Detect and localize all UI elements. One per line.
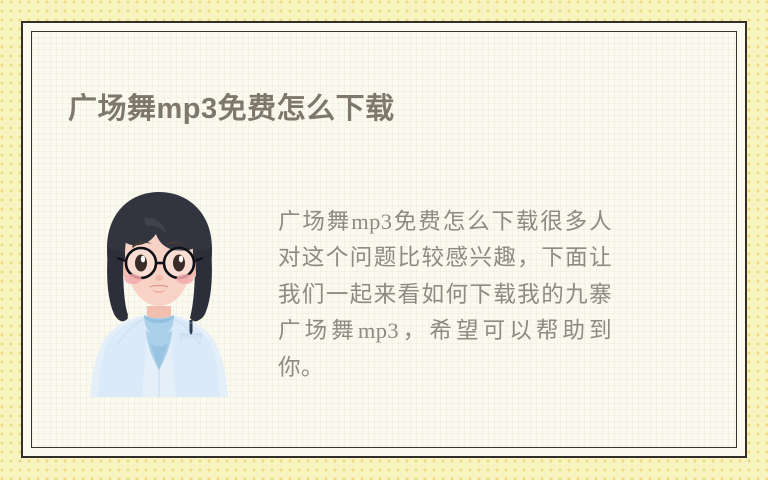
- page-title: 广场舞mp3免费怎么下载: [68, 91, 395, 127]
- inner-frame-panel: 广场舞mp3免费怎么下载: [31, 31, 737, 448]
- woman-avatar-illustration: [84, 182, 234, 407]
- nose-icon: [155, 275, 163, 281]
- outer-frame-border: 广场舞mp3免费怎么下载: [21, 21, 747, 458]
- content-row: 广场舞mp3免费怎么下载很多人对这个问题比较感兴趣，下面让我们一起来看如何下载我…: [32, 182, 736, 409]
- avatar: [84, 182, 234, 407]
- poster-canvas: 广场舞mp3免费怎么下载: [0, 0, 768, 480]
- pen-icon: [190, 320, 193, 335]
- body-paragraph: 广场舞mp3免费怎么下载很多人对这个问题比较感兴趣，下面让我们一起来看如何下载我…: [278, 204, 612, 386]
